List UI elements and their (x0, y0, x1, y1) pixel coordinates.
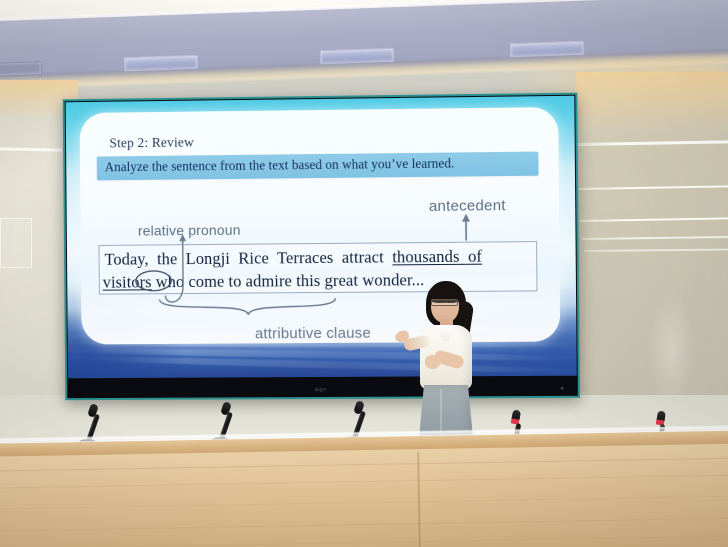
label-attributive-clause: attributive clause (255, 325, 371, 343)
sentence-part-plain: come to admire this great wonder... (188, 270, 424, 291)
sentence-underlined-part: thousands of (392, 247, 482, 267)
sentence-circled-word: who (152, 272, 189, 291)
sentence-line-1: Today, the Longji Rice Terraces attract … (104, 247, 482, 270)
ceiling-light-panel (0, 61, 42, 77)
sentence-line-2: visitors who come to admire this great w… (103, 270, 425, 292)
display-screen[interactable]: Step 2: Review Analyze the sentence from… (63, 93, 580, 400)
screen-surface: Step 2: Review Analyze the sentence from… (66, 96, 577, 379)
presenter-right-hand (425, 355, 440, 369)
ceiling-light-panel (510, 41, 584, 58)
classroom-photo: Step 2: Review Analyze the sentence from… (0, 0, 728, 547)
ir-receiver (561, 387, 564, 390)
presenter-glasses (431, 299, 458, 306)
ceiling-light-panel (124, 55, 198, 72)
label-relative-pronoun: relative pronoun (138, 222, 241, 239)
label-antecedent: antecedent (429, 197, 506, 215)
right-wall-glow (576, 72, 728, 132)
display-brand-logo: aigo (315, 387, 326, 393)
desk-front-panel (0, 443, 728, 547)
sentence-underlined-part: visitors (103, 272, 152, 291)
wall-reflection (648, 290, 694, 410)
sentence-part-plain: Today, the Longji Rice Terraces attract (104, 247, 392, 268)
left-wall-panel (0, 218, 32, 268)
ceiling-light-panel (320, 48, 394, 65)
slide-step-title: Step 2: Review (109, 134, 194, 151)
